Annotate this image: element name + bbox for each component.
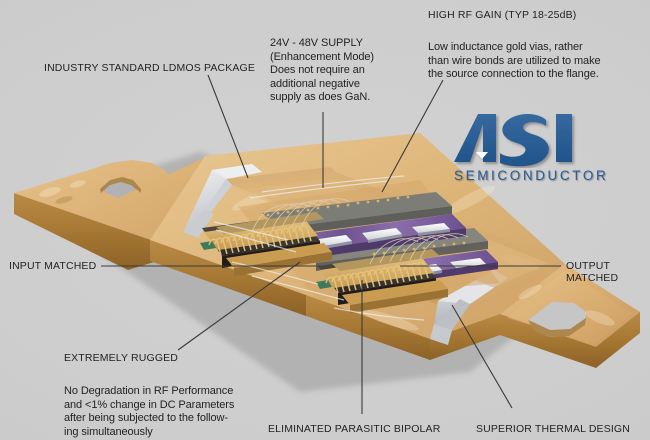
- callout-extremely-rugged: EXTREMELY RUGGED: [64, 352, 178, 364]
- callout-input-matched: INPUT MATCHED: [9, 260, 96, 272]
- callout-superior-thermal-design: SUPERIOR THERMAL DESIGN: [476, 423, 630, 435]
- product-diagram: INDUSTRY STANDARD LDMOS PACKAGE 24V - 48…: [0, 0, 650, 440]
- callout-low-inductance-gold-vias: Low inductance gold vias, rather than wi…: [428, 41, 601, 82]
- callout-eliminated-parasitic-bipolar: ELIMINATED PARASITIC BIPOLAR: [268, 423, 440, 435]
- callout-no-degradation: No Degradation in RF Performance and <1%…: [64, 385, 234, 439]
- callout-output-matched: OUTPUT MATCHED: [566, 260, 650, 284]
- callout-industry-standard-ldmos-package: INDUSTRY STANDARD LDMOS PACKAGE: [44, 62, 255, 74]
- callout-supply-voltage: 24V - 48V SUPPLY (Enhancement Mode) Does…: [270, 37, 374, 105]
- callout-high-rf-gain: HIGH RF GAIN (TYP 18-25dB): [428, 9, 576, 21]
- asi-logo-tagline: SEMICONDUCTOR: [454, 168, 608, 183]
- asi-logo-mark: [452, 112, 602, 168]
- asi-logo: SEMICONDUCTOR: [452, 112, 602, 190]
